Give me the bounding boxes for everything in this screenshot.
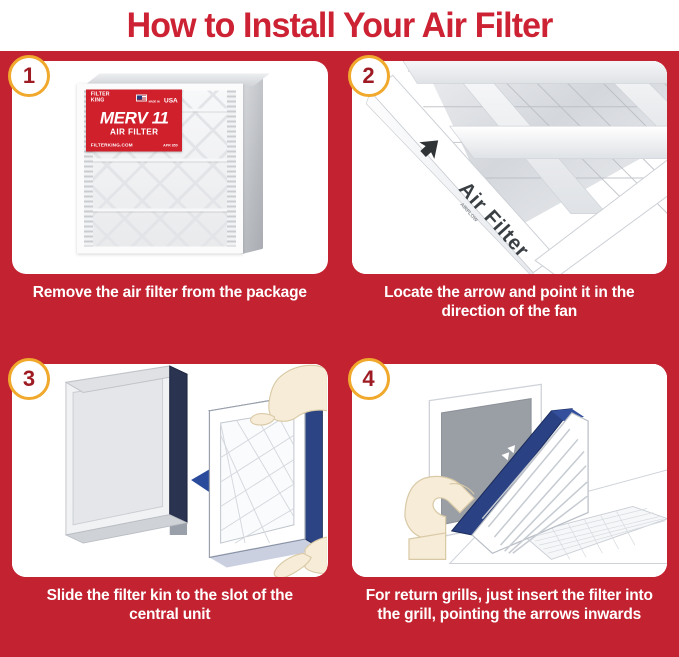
brand-website-text: FILTERKING.COM bbox=[91, 142, 133, 147]
step-4-number-badge: 4 bbox=[348, 358, 390, 400]
step-2-number-badge: 2 bbox=[348, 55, 390, 97]
infographic-page: How to Install Your Air Filter bbox=[0, 0, 679, 657]
step-4-card: 4 bbox=[352, 364, 668, 577]
step-2-caption: Locate the arrow and point it in the dir… bbox=[352, 274, 668, 322]
label-bottom-row: FILTERKING.COM APR 850 bbox=[91, 142, 178, 147]
steps-grid: FILTER KING MADE IN USA bbox=[0, 51, 679, 657]
step-4: 4 For return grills, just insert the fil… bbox=[340, 354, 679, 657]
made-in-usa-badge: MADE IN USA bbox=[136, 89, 178, 107]
air-filter-product-illustration: FILTER KING MADE IN USA bbox=[77, 75, 263, 260]
step-4-image bbox=[352, 364, 668, 577]
cardboard-brace-horizontal bbox=[396, 61, 667, 83]
step-2-image: Air Filter AIRFLOW bbox=[352, 61, 668, 274]
step-3-image bbox=[12, 364, 328, 577]
filter-pleat-right bbox=[227, 90, 236, 246]
filter-product-label: FILTER KING MADE IN USA bbox=[86, 89, 182, 151]
filter-king-logo: FILTER KING bbox=[91, 93, 110, 104]
return-grill-insertion-illustration bbox=[352, 364, 667, 577]
page-header: How to Install Your Air Filter bbox=[0, 0, 679, 51]
step-1-image: FILTER KING MADE IN USA bbox=[12, 61, 328, 274]
step-3-card: 3 bbox=[12, 364, 328, 577]
label-top-row: FILTER KING MADE IN USA bbox=[91, 92, 178, 104]
air-filter-subtitle: AIR FILTER bbox=[91, 127, 178, 136]
slide-filter-into-slot-illustration bbox=[12, 364, 327, 577]
merv-rating-text: MERV 11 bbox=[91, 108, 178, 128]
step-2: Air Filter AIRFLOW 2 Locate the arrow an… bbox=[340, 51, 679, 354]
cardboard-brace-horizontal-2 bbox=[449, 126, 667, 159]
filter-side-depth bbox=[241, 76, 263, 253]
step-1-number-badge: 1 bbox=[8, 55, 50, 97]
usa-flag-icon bbox=[136, 95, 147, 102]
step-1-card: FILTER KING MADE IN USA bbox=[12, 61, 328, 274]
apr-rating-text: APR 850 bbox=[163, 143, 178, 147]
step-3: 3 Slide the filter kin to the slot of th… bbox=[0, 354, 340, 657]
step-4-caption: For return grills, just insert the filte… bbox=[352, 577, 668, 625]
step-3-number-badge: 3 bbox=[8, 358, 50, 400]
step-2-card: Air Filter AIRFLOW 2 bbox=[352, 61, 668, 274]
step-3-caption: Slide the filter kin to the slot of the … bbox=[12, 577, 328, 625]
filter-corner-photo-illustration: Air Filter AIRFLOW bbox=[352, 61, 667, 274]
page-title: How to Install Your Air Filter bbox=[127, 6, 553, 46]
made-in-usa-text: MADE IN USA bbox=[149, 89, 178, 107]
step-1-caption: Remove the air filter from the package bbox=[12, 274, 328, 302]
central-unit-slot bbox=[66, 366, 187, 543]
step-1: FILTER KING MADE IN USA bbox=[0, 51, 340, 354]
